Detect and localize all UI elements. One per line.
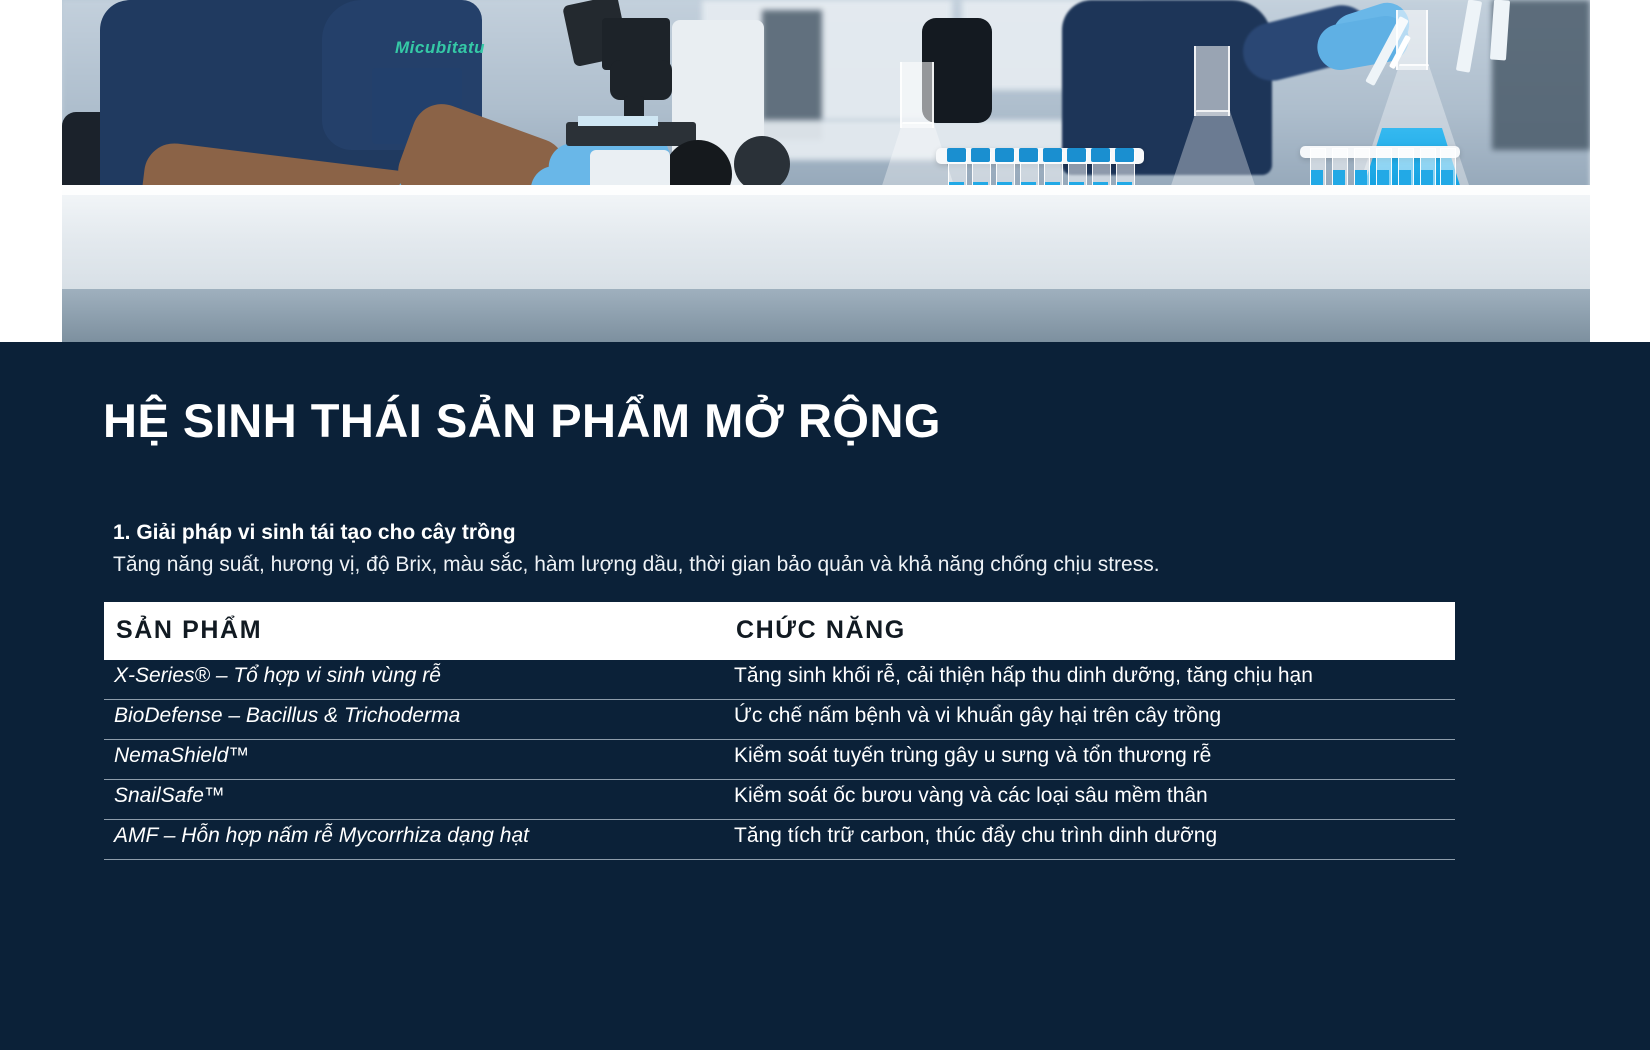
table-row: SnailSafe™ Kiểm soát ốc bươu vàng và các… (104, 780, 1455, 820)
section-description: Tăng năng suất, hương vị, độ Brix, màu s… (113, 553, 1160, 577)
content-panel: HỆ SINH THÁI SẢN PHẨM MỞ RỘNG 1. Giải ph… (0, 342, 1650, 1050)
page-title: HỆ SINH THÁI SẢN PHẨM MỞ RỘNG (103, 393, 941, 448)
test-tube-cap (947, 148, 966, 162)
table-row: NemaShield™ Kiểm soát tuyến trùng gây u … (104, 740, 1455, 780)
hero-banner: Micubitatu (0, 0, 1650, 342)
focus-knob-small (734, 136, 790, 192)
cell-function: Kiểm soát tuyến trùng gây u sưng và tổn … (734, 744, 1211, 768)
specimen-slide (578, 116, 658, 126)
laboratory-photo: Micubitatu (62, 0, 1590, 342)
microscope-nosepiece (610, 60, 672, 100)
rack-top (936, 148, 1144, 164)
bench-underside (62, 289, 1590, 342)
column-header-product: SẢN PHẨM (116, 616, 262, 645)
bench-edge (62, 185, 1590, 195)
table-header-row: SẢN PHẨM CHỨC NĂNG (104, 602, 1455, 660)
cell-function: Ức chế nấm bệnh và vi khuẩn gây hại trên… (734, 704, 1221, 728)
test-tube-cap (1043, 148, 1062, 162)
test-tube-cap (1067, 148, 1086, 162)
cell-product: NemaShield™ (114, 744, 249, 768)
table-row: X-Series® – Tổ hợp vi sinh vùng rễ Tăng … (104, 660, 1455, 700)
flask-neck (1396, 10, 1428, 70)
shirt-logo: Micubitatu (395, 38, 485, 58)
cell-product: X-Series® – Tổ hợp vi sinh vùng rễ (114, 664, 441, 688)
test-tube-cap (1115, 148, 1134, 162)
test-tube-cap (971, 148, 990, 162)
cell-function: Tăng sinh khối rễ, cải thiện hấp thu din… (734, 664, 1313, 688)
column-header-function: CHỨC NĂNG (736, 616, 906, 645)
test-tube-cap (995, 148, 1014, 162)
section-heading: 1. Giải pháp vi sinh tái tạo cho cây trồ… (113, 521, 516, 545)
product-table: SẢN PHẨM CHỨC NĂNG X-Series® – Tổ hợp vi… (104, 602, 1455, 860)
cell-function: Tăng tích trữ carbon, thúc đẩy chu trình… (734, 824, 1217, 848)
test-tube-cap (1091, 148, 1110, 162)
cell-product: BioDefense – Bacillus & Trichoderma (114, 704, 460, 728)
flask-neck (1194, 46, 1230, 116)
lab-bench (62, 185, 1590, 342)
table-row: BioDefense – Bacillus & Trichoderma Ức c… (104, 700, 1455, 740)
table-row: AMF – Hỗn hợp nấm rễ Mycorrhiza dạng hạt… (104, 820, 1455, 860)
flask-neck (900, 62, 934, 128)
test-tube-cap (1019, 148, 1038, 162)
cell-function: Kiểm soát ốc bươu vàng và các loại sâu m… (734, 784, 1208, 808)
cell-product: AMF – Hỗn hợp nấm rễ Mycorrhiza dạng hạt (114, 824, 529, 848)
cell-product: SnailSafe™ (114, 784, 225, 808)
